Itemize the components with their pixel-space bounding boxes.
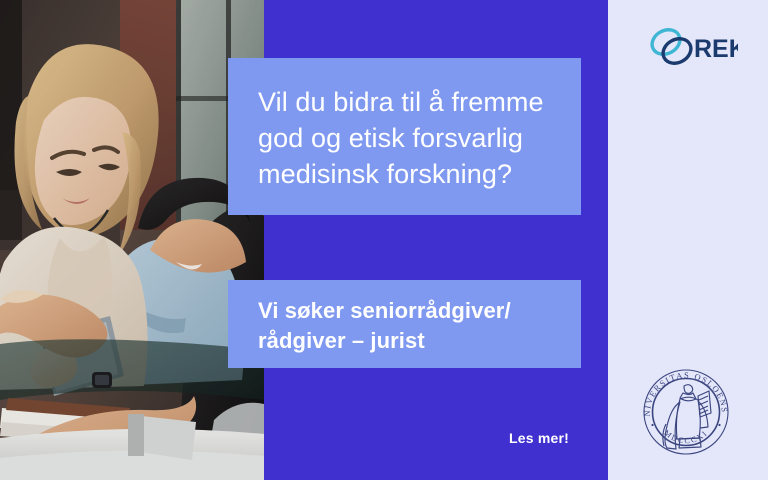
job-title-line-1: Vi søker seniorrådgiver/ <box>258 296 551 326</box>
job-title-card: Vi søker seniorrådgiver/ rådgiver – juri… <box>228 280 581 368</box>
rek-wordmark: REK <box>694 35 738 63</box>
job-title-line-2: rådgiver – jurist <box>258 326 551 356</box>
uio-seal: UNIVERSITAS OSLOENSIS MDCCCXI <box>636 362 736 462</box>
photo-illustration <box>0 0 264 480</box>
rek-interlocking-rings-icon: REK <box>650 26 738 68</box>
read-more-link[interactable]: Les mer! <box>509 430 569 446</box>
headline-line-3: medisinsk forskning? <box>258 156 551 192</box>
seal-year-text: MDCCCXI <box>662 428 709 445</box>
job-advert-banner: REK UNIVERSITAS OSLOENSIS MDCCCXI <box>0 0 768 480</box>
rek-logo: REK <box>650 26 738 68</box>
headline-line-2: god og etisk forsvarlig <box>258 120 551 156</box>
office-team-photo <box>0 0 264 480</box>
uio-apollo-seal-icon: UNIVERSITAS OSLOENSIS MDCCCXI <box>636 362 736 462</box>
headline-line-1: Vil du bidra til å fremme <box>258 84 551 120</box>
headline-card: Vil du bidra til å fremme god og etisk f… <box>228 58 581 215</box>
